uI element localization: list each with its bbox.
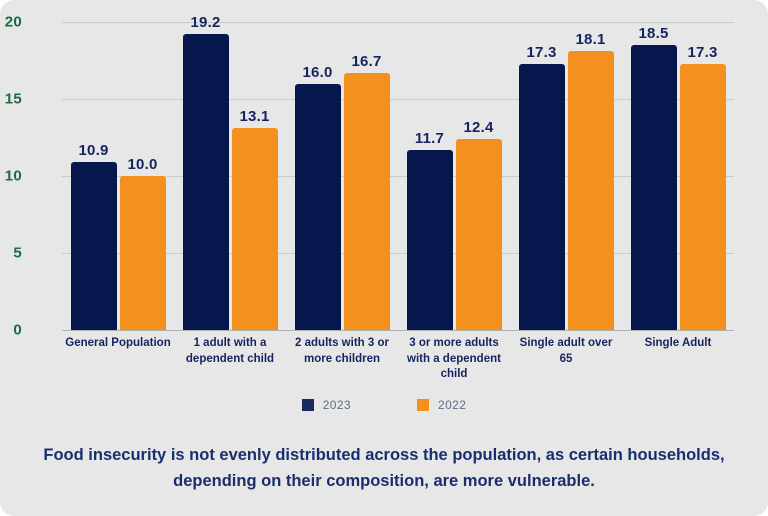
category-label-2: 1 adult with a dependent child [174,336,286,383]
bar-2023-3[interactable]: 16.0 [295,84,341,330]
bar-2023-1[interactable]: 10.9 [71,162,117,330]
category-label-5: Single adult over 65 [510,336,622,383]
bar-2022-4[interactable]: 12.4 [456,139,502,330]
bar-group: 17.318.1 [510,22,622,330]
bar-value-label: 17.3 [527,44,557,61]
y-tick-label-0: 0 [0,322,22,339]
bar-2022-3[interactable]: 16.7 [344,73,390,330]
bar-rect[interactable] [71,162,117,330]
bar-value-label: 10.9 [79,142,109,159]
caption-line-1: Food insecurity is not evenly distribute… [40,443,728,469]
chart-caption: Food insecurity is not evenly distribute… [40,443,728,494]
bar-2023-6[interactable]: 18.5 [631,45,677,330]
bar-groups: 10.910.019.213.116.016.711.712.417.318.1… [62,22,734,330]
bar-value-label: 17.3 [688,44,718,61]
bar-rect[interactable] [407,150,453,330]
bar-group: 16.016.7 [286,22,398,330]
bar-rect[interactable] [568,51,614,330]
legend-label-2022: 2022 [438,398,466,412]
bar-group: 18.517.3 [622,22,734,330]
bar-rect[interactable] [519,64,565,330]
y-tick-label-10: 10 [0,168,22,185]
bar-2023-4[interactable]: 11.7 [407,150,453,330]
bar-group: 11.712.4 [398,22,510,330]
bar-rect[interactable] [295,84,341,330]
plot-area: 05101520 10.910.019.213.116.016.711.712.… [62,22,734,330]
category-label-6: Single Adult [622,336,734,383]
gridline-0 [62,330,734,331]
y-tick-label-5: 5 [0,245,22,262]
bar-value-label: 11.7 [415,130,444,147]
x-axis-category-labels: General Population1 adult with a depende… [62,336,734,383]
bar-2022-6[interactable]: 17.3 [680,64,726,330]
bar-2022-5[interactable]: 18.1 [568,51,614,330]
bar-group: 10.910.0 [62,22,174,330]
legend-label-2023: 2023 [323,398,351,412]
bar-value-label: 10.0 [128,156,158,173]
legend-item-2022[interactable]: 2022 [417,398,466,412]
bar-value-label: 18.5 [639,25,669,42]
bar-group: 19.213.1 [174,22,286,330]
bar-rect[interactable] [631,45,677,330]
bar-rect[interactable] [680,64,726,330]
bar-value-label: 19.2 [191,14,221,31]
chart-figure: 05101520 10.910.019.213.116.016.711.712.… [0,0,768,516]
bar-value-label: 12.4 [464,119,494,136]
bar-rect[interactable] [232,128,278,330]
bar-rect[interactable] [344,73,390,330]
caption-line-2: depending on their composition, are more… [40,469,728,495]
bar-rect[interactable] [456,139,502,330]
bar-2022-1[interactable]: 10.0 [120,176,166,330]
category-label-4: 3 or more adults with a dependent child [398,336,510,383]
y-tick-label-15: 15 [0,91,22,108]
legend-swatch-2022 [417,399,429,411]
bar-value-label: 16.7 [352,53,382,70]
legend-swatch-2023 [302,399,314,411]
bar-value-label: 18.1 [576,31,606,48]
legend-item-2023[interactable]: 2023 [302,398,351,412]
bar-value-label: 16.0 [303,64,333,81]
bar-2023-2[interactable]: 19.2 [183,34,229,330]
category-label-3: 2 adults with 3 or more children [286,336,398,383]
bar-value-label: 13.1 [240,108,270,125]
bar-rect[interactable] [120,176,166,330]
category-label-1: General Population [62,336,174,383]
chart-legend: 20232022 [0,398,768,412]
bar-rect[interactable] [183,34,229,330]
bar-2022-2[interactable]: 13.1 [232,128,278,330]
bar-2023-5[interactable]: 17.3 [519,64,565,330]
y-tick-label-20: 20 [0,14,22,31]
